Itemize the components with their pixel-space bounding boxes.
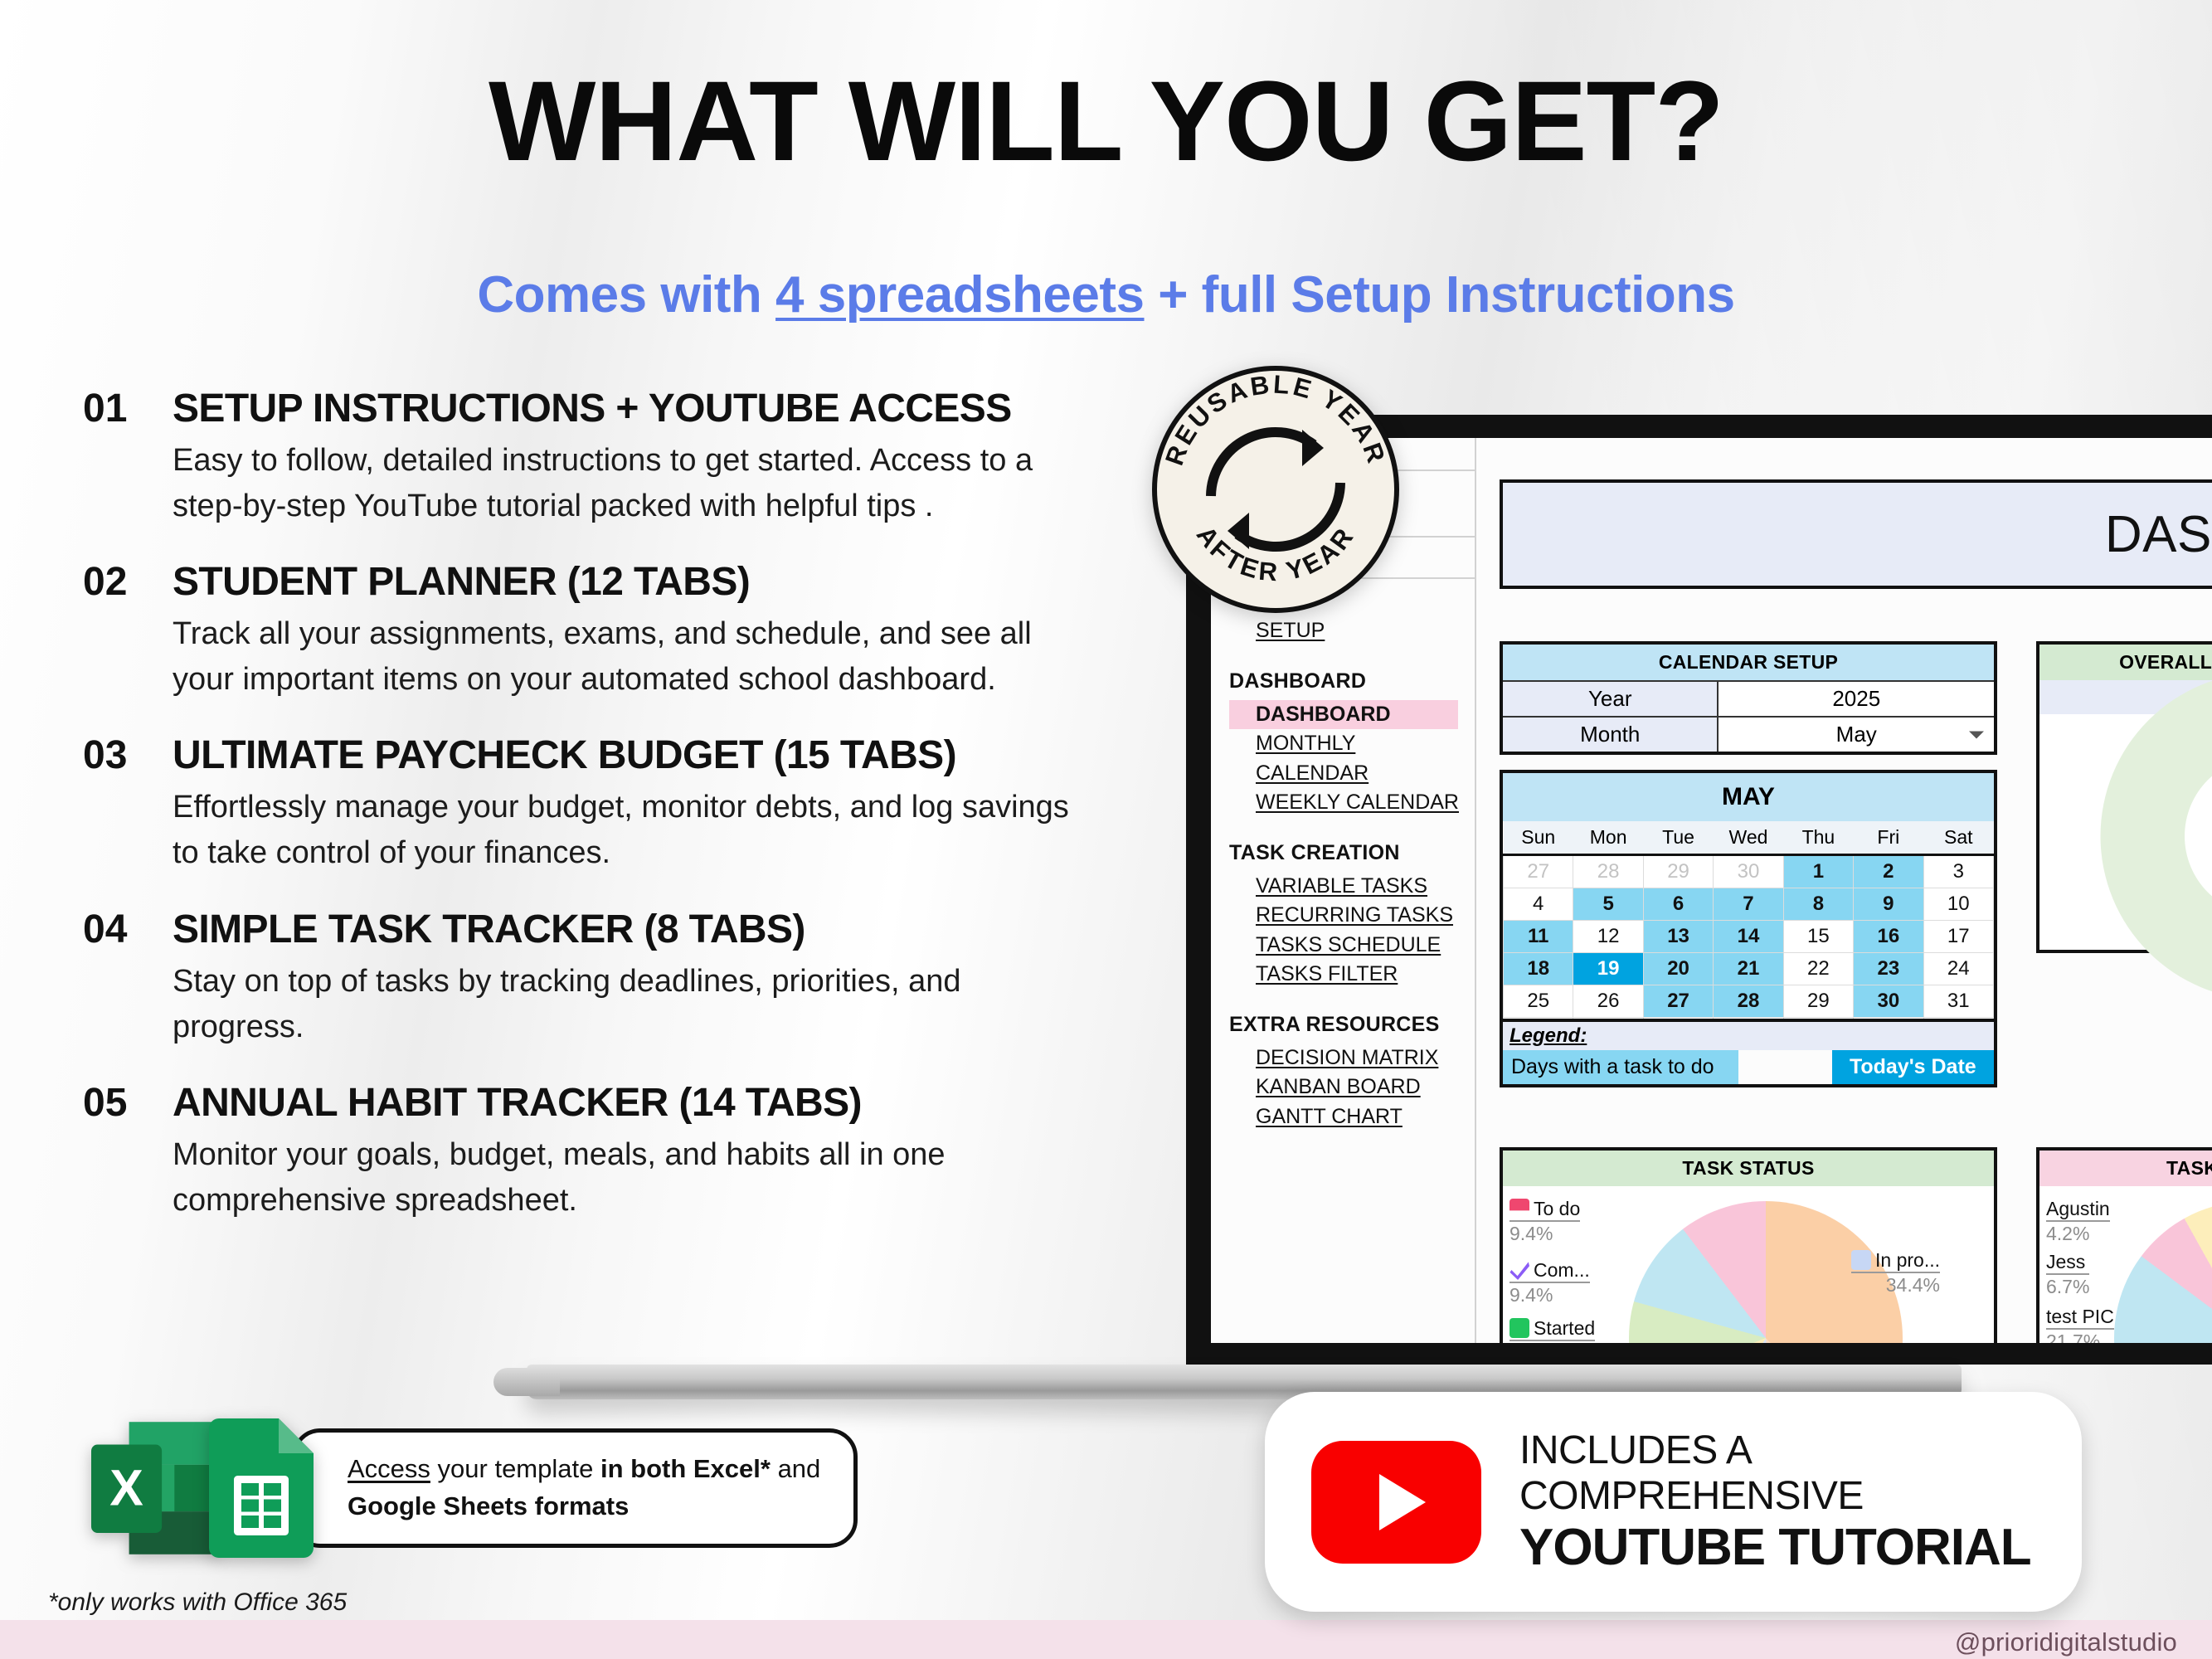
nav-group-title: EXTRA RESOURCES [1229, 1013, 1461, 1037]
format-note: Access your template in both Excel* and … [292, 1428, 858, 1548]
subtitle-part-after: + full Setup Instructions [1145, 266, 1735, 324]
year-input[interactable]: 2025 [1719, 682, 1994, 716]
pie-label-agustin: Agustin 4.2% [2046, 1198, 2110, 1245]
laptop-mockup: SETUP SETUP DASHBOARD DASHBOARD MONTHLY … [958, 415, 2212, 1510]
feature-number: 02 [83, 559, 144, 605]
sidebar-item-tasks-filter[interactable]: TASKS FILTER [1256, 960, 1461, 990]
shop-handle: @prioridigitalstudio [1955, 1627, 2177, 1657]
calendar-setup-year-row: Year 2025 [1503, 680, 1994, 716]
calendar-day-cell[interactable]: 9 [1854, 888, 1923, 921]
calendar-day-cell[interactable]: 27 [1643, 985, 1713, 1018]
legend-task-days: Days with a task to do [1503, 1050, 1738, 1084]
month-value: May [1836, 722, 1877, 747]
calendar-day-cell[interactable]: 27 [1504, 855, 1573, 888]
calendar-week-row: 11121314151617 [1504, 921, 1994, 953]
sidebar-item-tasks-schedule[interactable]: TASKS SCHEDULE [1256, 931, 1461, 961]
legend-today-date: Today's Date [1832, 1050, 1994, 1084]
legend-row: Days with a task to do Today's Date [1503, 1050, 1994, 1084]
calendar-day-cell[interactable]: 25 [1504, 985, 1573, 1018]
calendar-setup-panel: CALENDAR SETUP Year 2025 Month May [1500, 641, 1997, 755]
sidebar-item-recurring-tasks[interactable]: RECURRING TASKS [1256, 901, 1461, 931]
overall-tasks-completed-panel: OVERALL TASKS COMPLETED 24 OF 176 14% [2036, 641, 2212, 953]
page-subtitle: Comes with 4 spreadsheets + full Setup I… [0, 265, 2212, 324]
feature-description: Monitor your goals, budget, meals, and h… [173, 1132, 1093, 1224]
calendar-weekday-header: SunMonTueWedThuFriSat [1504, 821, 1994, 855]
sheet-navigation: SETUP SETUP DASHBOARD DASHBOARD MONTHLY … [1229, 586, 1461, 1155]
dashboard-title-text: DASHBOARD [2105, 505, 2212, 564]
sidebar-item-dashboard[interactable]: DASHBOARD [1229, 700, 1458, 730]
overall-tasks-title: OVERALL TASKS COMPLETED [2039, 645, 2212, 680]
youtube-badge-text: INCLUDES A COMPREHENSIVE YOUTUBE TUTORIA… [1519, 1428, 2035, 1576]
calendar-day-cell[interactable]: 2 [1854, 855, 1923, 888]
calendar-week-row: 25262728293031 [1504, 985, 1994, 1018]
feature-title: ULTIMATE PAYCHECK BUDGET (15 TABS) [173, 732, 956, 778]
feature-number: 04 [83, 907, 144, 952]
play-triangle-icon [1379, 1474, 1426, 1530]
feature-title: ANNUAL HABIT TRACKER (14 TABS) [173, 1080, 862, 1126]
calendar-week-row: 27282930123 [1504, 855, 1994, 888]
month-label: Month [1503, 718, 1719, 752]
donut-chart: 14% [2039, 714, 2212, 958]
pie-label-in-progress: In pro... 34.4% [1851, 1249, 1940, 1297]
format-note-mid: your template [430, 1454, 600, 1483]
feature-description: Stay on top of tasks by tracking deadlin… [173, 959, 1093, 1050]
feature-number: 05 [83, 1080, 144, 1126]
calendar-day-cell[interactable]: 31 [1923, 985, 1993, 1018]
chevron-down-icon[interactable] [1969, 731, 1984, 738]
task-status-panel: TASK STATUS To do 9.4% Com... 9.4% Start [1500, 1147, 1997, 1343]
page-title: WHAT WILL YOU GET? [0, 65, 2212, 178]
calendar-day-cell[interactable]: 30 [1854, 985, 1923, 1018]
subtitle-underlined: 4 spreadsheets [775, 266, 1144, 324]
calendar-day-cell[interactable]: 13 [1643, 921, 1713, 953]
calendar-day-cell[interactable]: 26 [1573, 985, 1643, 1018]
calendar-grid: SunMonTueWedThuFriSat 272829301234567891… [1503, 821, 1994, 1050]
task-distribution-panel: TASK DISTRIBUTION Agustin 4.2% Jess 6.7% [2036, 1147, 2212, 1343]
calendar-weekday: Sun [1504, 821, 1573, 855]
grid-column-divider [1475, 438, 1476, 1343]
calendar-day-cell[interactable]: 29 [1643, 855, 1713, 888]
youtube-badge-line1: INCLUDES A COMPREHENSIVE [1519, 1428, 2035, 1519]
sidebar-item-monthly-calendar[interactable]: MONTHLY CALENDAR [1256, 729, 1461, 788]
year-label: Year [1503, 682, 1719, 716]
footer-strip [0, 1620, 2212, 1659]
sidebar-item-variable-tasks[interactable]: VARIABLE TASKS [1256, 872, 1461, 902]
task-status-pie: To do 9.4% Com... 9.4% Started 9.4% To [1503, 1186, 1994, 1343]
calendar-weekday: Fri [1854, 821, 1923, 855]
calendar-week-row: 18192021222324 [1504, 953, 1994, 985]
calendar-day-cell[interactable]: 8 [1783, 888, 1853, 921]
chart-icon [1851, 1250, 1871, 1270]
calendar-day-cell[interactable]: 28 [1714, 985, 1783, 1018]
calendar-weekday: Wed [1714, 821, 1783, 855]
calendar-day-cell[interactable]: 30 [1714, 855, 1783, 888]
calendar-day-cell[interactable]: 22 [1783, 953, 1853, 985]
office-disclaimer: *only works with Office 365 [48, 1588, 347, 1617]
format-note-excel: in both Excel* [600, 1454, 771, 1483]
flag-icon [1510, 1199, 1529, 1219]
feature-title: SETUP INSTRUCTIONS + YOUTUBE ACCESS [173, 386, 1012, 431]
google-sheets-icon [209, 1418, 314, 1558]
calendar-setup-title: CALENDAR SETUP [1503, 645, 1994, 680]
sidebar-item-kanban-board[interactable]: KANBAN BOARD [1256, 1073, 1461, 1102]
feature-description: Track all your assignments, exams, and s… [173, 611, 1093, 703]
format-note-sheets: Google Sheets formats [348, 1491, 629, 1520]
feature-number: 03 [83, 732, 144, 778]
calendar-weekday: Sat [1923, 821, 1993, 855]
calendar-day-cell[interactable]: 18 [1504, 953, 1573, 985]
month-calendar-panel: MAY SunMonTueWedThuFriSat 27282930123456… [1500, 770, 1997, 1053]
feature-description: Effortlessly manage your budget, monitor… [173, 785, 1093, 876]
format-availability-row: X Access your template in both Excel* an… [91, 1418, 858, 1558]
youtube-tutorial-badge: INCLUDES A COMPREHENSIVE YOUTUBE TUTORIA… [1265, 1392, 2082, 1612]
feature-number: 01 [83, 386, 144, 431]
calendar-weekday: Mon [1573, 821, 1643, 855]
youtube-play-icon [1311, 1441, 1481, 1564]
calendar-day-cell[interactable]: 28 [1573, 855, 1643, 888]
calendar-day-cell[interactable]: 20 [1643, 953, 1713, 985]
calendar-day-cell[interactable]: 4 [1504, 888, 1573, 921]
calendar-day-cell[interactable]: 24 [1923, 953, 1993, 985]
month-dropdown[interactable]: May [1719, 718, 1994, 752]
sidebar-item-gantt-chart[interactable]: GANTT CHART [1256, 1102, 1461, 1132]
legend-title: Legend: [1503, 1022, 1994, 1050]
calendar-month-name: MAY [1503, 773, 1994, 821]
calendar-day-cell[interactable]: 14 [1714, 921, 1783, 953]
nav-group-task-creation: TASK CREATION VARIABLE TASKS RECURRING T… [1229, 841, 1461, 990]
calendar-day-cell[interactable]: 1 [1783, 855, 1853, 888]
pie-label-jess: Jess 6.7% [2046, 1251, 2089, 1298]
pie-label-completed: Com... 9.4% [1510, 1259, 1590, 1306]
sidebar-item-decision-matrix[interactable]: DECISION MATRIX [1256, 1044, 1461, 1073]
pie-label-todo: To do 9.4% [1510, 1198, 1580, 1245]
calendar-day-cell[interactable]: 12 [1573, 921, 1643, 953]
pie-label-started: Started 9.4% [1510, 1317, 1595, 1343]
calendar-weekday: Tue [1643, 821, 1713, 855]
excel-icon: X [91, 1422, 217, 1554]
calendar-day-cell[interactable]: 11 [1504, 921, 1573, 953]
youtube-badge-line2: YOUTUBE TUTORIAL [1519, 1520, 2035, 1576]
pie-label-test-pic: test PIC 21.7% [2046, 1306, 2114, 1343]
calendar-day-cell[interactable]: 6 [1643, 888, 1713, 921]
legend-spacer [1738, 1050, 1831, 1084]
calendar-day-cell[interactable]: 15 [1783, 921, 1853, 953]
nav-group-title: DASHBOARD [1229, 669, 1461, 693]
svg-text:X: X [109, 1460, 143, 1516]
calendar-day-cell[interactable]: 7 [1714, 888, 1783, 921]
sidebar-item-weekly-calendar[interactable]: WEEKLY CALENDAR [1256, 788, 1461, 818]
feature-description: Easy to follow, detailed instructions to… [173, 438, 1093, 529]
calendar-day-cell[interactable]: 5 [1573, 888, 1643, 921]
task-distribution-pie: Agustin 4.2% Jess 6.7% test PIC 21.7% [2039, 1186, 2212, 1343]
calendar-day-cell[interactable]: 16 [1854, 921, 1923, 953]
check-icon [1510, 1260, 1529, 1280]
calendar-day-cell[interactable]: 19 [1573, 953, 1643, 985]
calendar-day-cell[interactable]: 17 [1923, 921, 1993, 953]
calendar-day-cell[interactable]: 23 [1854, 953, 1923, 985]
checkbox-icon [1510, 1318, 1529, 1338]
nav-group-title: TASK CREATION [1229, 841, 1461, 865]
calendar-day-cell[interactable]: 3 [1923, 855, 1993, 888]
calendar-day-cell[interactable]: 21 [1714, 953, 1783, 985]
dashboard-title-bar: DASHBOARD [1500, 479, 2212, 589]
nav-group-dashboard: DASHBOARD DASHBOARD MONTHLY CALENDAR WEE… [1229, 669, 1461, 818]
feature-title: SIMPLE TASK TRACKER (8 TABS) [173, 907, 805, 952]
reusable-year-after-year-badge: REUSABLE YEAR AFTER YEAR [1151, 365, 1400, 614]
calendar-weekday: Thu [1783, 821, 1853, 855]
sidebar-item-setup[interactable]: SETUP [1256, 616, 1461, 646]
format-note-access: Access [348, 1454, 430, 1483]
nav-group-extra-resources: EXTRA RESOURCES DECISION MATRIX KANBAN B… [1229, 1013, 1461, 1132]
calendar-legend-panel: Legend: Days with a task to do Today's D… [1500, 1019, 1997, 1087]
task-distribution-title: TASK DISTRIBUTION [2039, 1151, 2212, 1186]
calendar-setup-month-row: Month May [1503, 716, 1994, 752]
task-status-title: TASK STATUS [1503, 1151, 1994, 1186]
format-note-and: and [771, 1454, 820, 1483]
pie-slices [2114, 1201, 2212, 1343]
calendar-week-row: 45678910 [1504, 888, 1994, 921]
calendar-day-cell[interactable]: 10 [1923, 888, 1993, 921]
feature-title: STUDENT PLANNER (12 TABS) [173, 559, 750, 605]
calendar-day-cell[interactable]: 29 [1783, 985, 1853, 1018]
subtitle-part-before: Comes with [477, 266, 775, 324]
